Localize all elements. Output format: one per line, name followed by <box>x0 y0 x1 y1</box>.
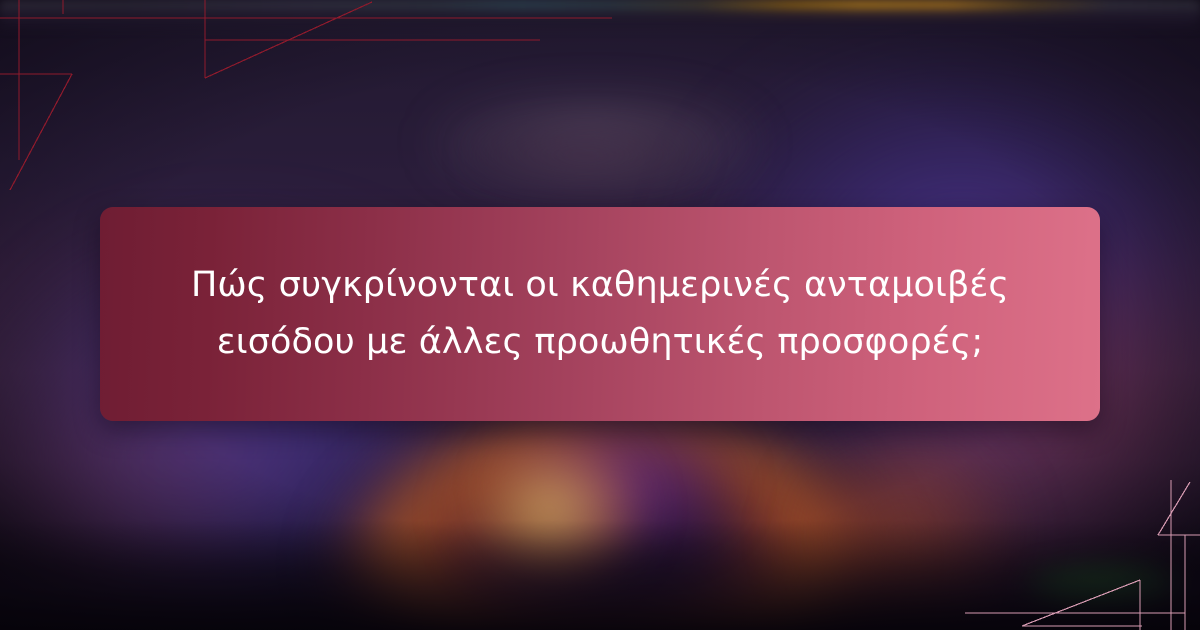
question-banner: Πώς συγκρίνονται οι καθημερινές ανταμοιβ… <box>100 207 1100 421</box>
bottom-fade-overlay <box>0 520 1200 630</box>
blurred-top-toolbar-shadow <box>0 8 1200 24</box>
screenshot-canvas: Πώς συγκρίνονται οι καθημερινές ανταμοιβ… <box>0 0 1200 630</box>
banner-heading: Πώς συγκρίνονται οι καθημερινές ανταμοιβ… <box>148 257 1052 370</box>
